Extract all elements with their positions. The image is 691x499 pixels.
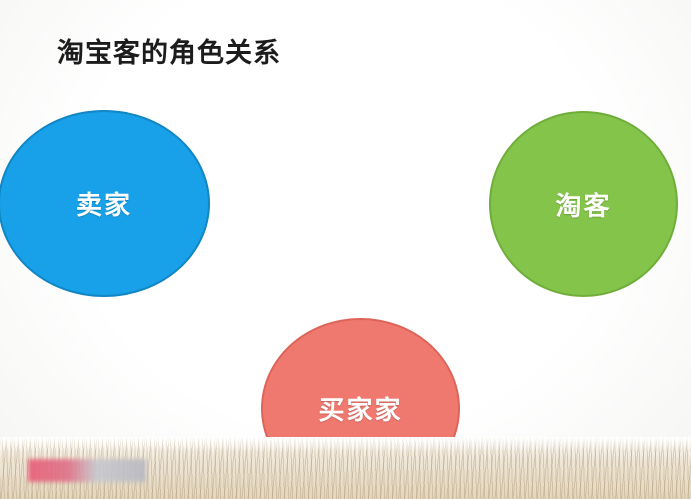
diagram-node-buyer[interactable]: 买家家	[261, 318, 460, 499]
page-title: 淘宝客的角色关系	[57, 31, 281, 70]
diagram-node-taoke-label: 淘客	[555, 186, 611, 223]
watermark-redaction	[28, 459, 146, 482]
diagram-node-seller-label: 卖家	[76, 185, 132, 222]
diagram-node-seller[interactable]: 卖家	[0, 110, 210, 297]
diagram-node-buyer-label: 买家家	[318, 390, 402, 427]
diagram-node-taoke[interactable]: 淘客	[489, 111, 678, 297]
slide-canvas: 淘宝客的角色关系 卖家 淘客 买家家	[0, 0, 691, 499]
